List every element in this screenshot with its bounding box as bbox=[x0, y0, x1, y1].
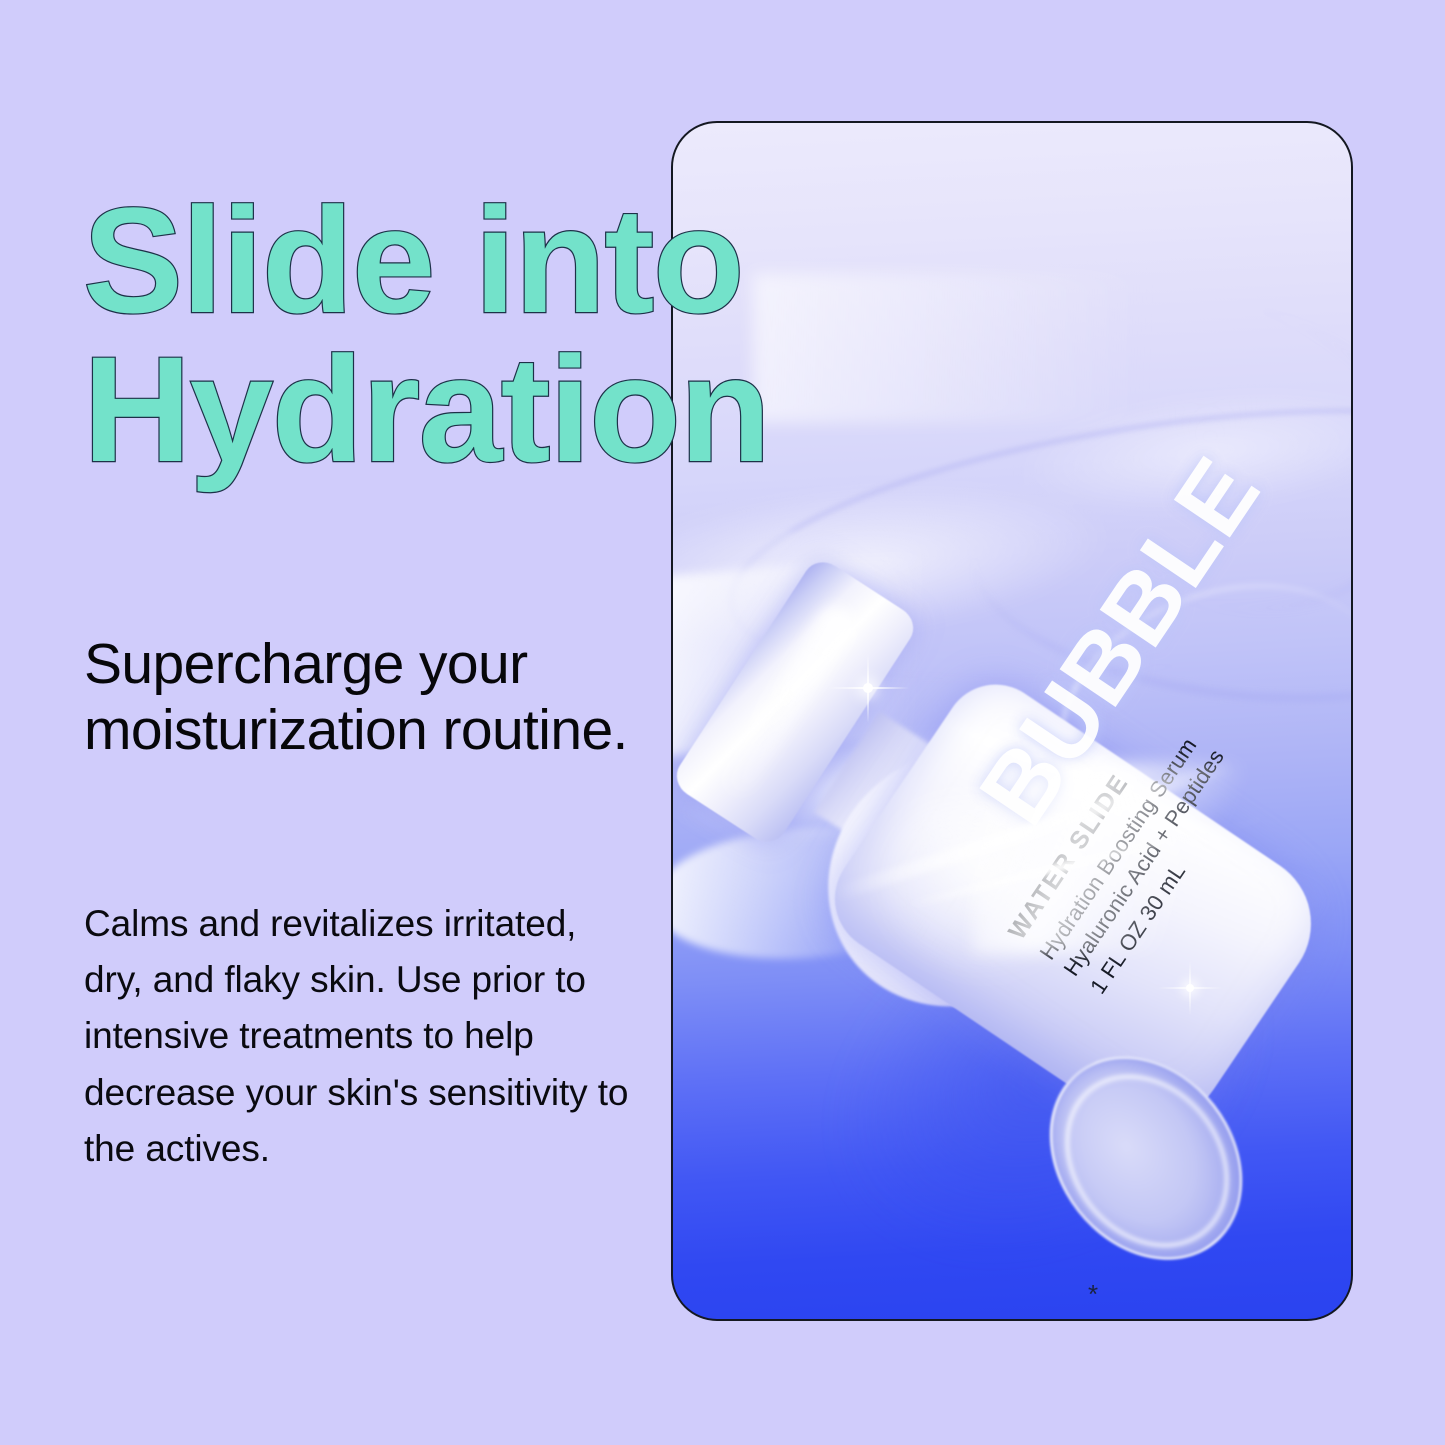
page-title: Slide into Hydration bbox=[83, 186, 953, 483]
sparkle-icon bbox=[1186, 984, 1194, 992]
headline-line-1: Slide into bbox=[83, 186, 953, 335]
subheading: Supercharge your moisturization routine. bbox=[84, 632, 664, 763]
footnote-asterisk: * bbox=[1088, 1281, 1098, 1307]
body-copy: Calms and revitalizes irritated, dry, an… bbox=[84, 896, 644, 1177]
headline-line-2: Hydration bbox=[83, 335, 953, 484]
sparkle-icon bbox=[863, 683, 873, 693]
marketing-graphic: BUBBLE WATER SLIDE Hydration Boosting Se… bbox=[0, 0, 1445, 1445]
